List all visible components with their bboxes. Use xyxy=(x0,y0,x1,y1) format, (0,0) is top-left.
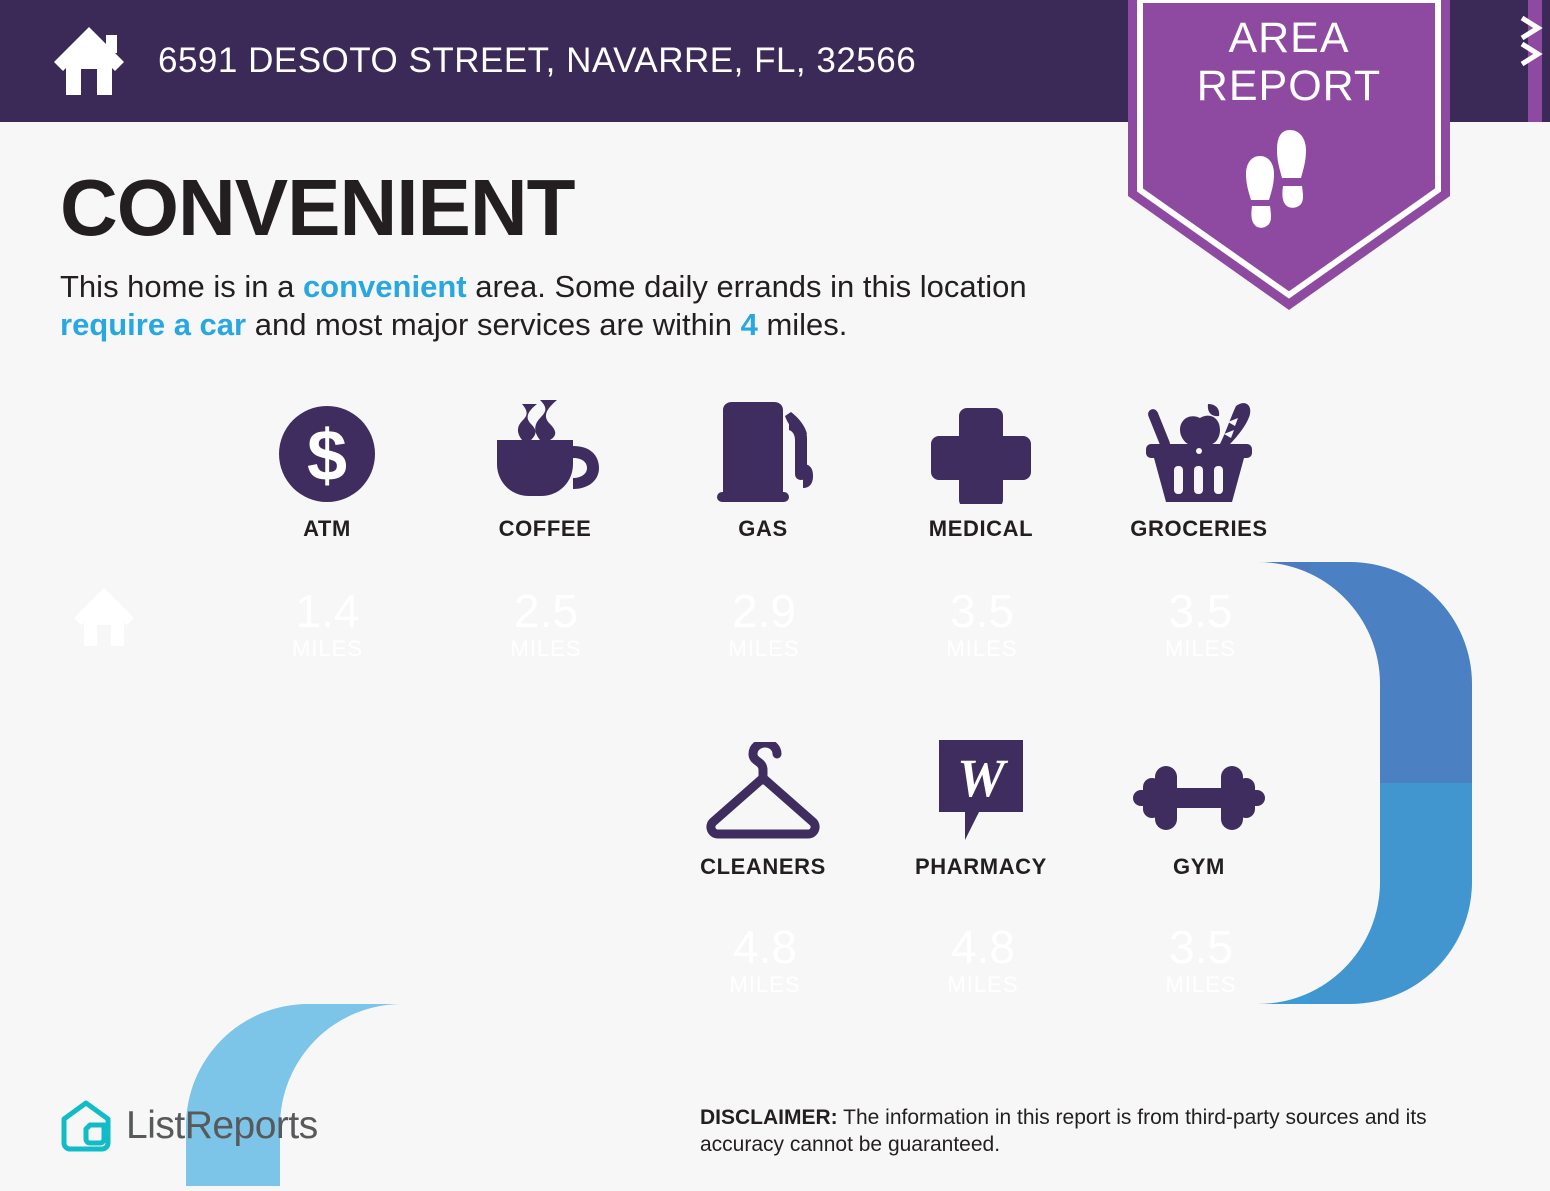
area-report-badge: AREA REPORT xyxy=(1128,0,1450,310)
page-title: CONVENIENT xyxy=(60,166,575,250)
grocery-basket-icon xyxy=(1140,404,1258,504)
logo-text: ListReports xyxy=(126,1104,318,1148)
snake-segment-medical xyxy=(873,562,1091,688)
snake-segment-lead-2 xyxy=(438,878,656,1004)
snake-connector-right-bottom xyxy=(1310,783,1510,1004)
amenity-gas: GAS xyxy=(654,404,872,542)
snake-tail-left xyxy=(186,1004,406,1186)
subtitle-part-3: and most major services are within xyxy=(246,307,740,342)
home-icon xyxy=(72,586,136,648)
subtitle-part-2: area. Some daily errands in this locatio… xyxy=(467,269,1027,304)
snake-connector-right-top xyxy=(1310,562,1510,783)
badge-line-1: AREA xyxy=(1128,14,1450,62)
amenity-icon-row-primary: $ ATM COFFEE GAS xyxy=(0,404,1550,542)
home-icon xyxy=(52,25,126,97)
listreports-house-icon xyxy=(60,1099,112,1153)
amenity-label: MEDICAL xyxy=(929,516,1033,542)
amenity-medical: MEDICAL xyxy=(872,404,1090,542)
snake-segment-gym xyxy=(1092,878,1310,1004)
dollar-circle-icon: $ xyxy=(277,404,377,504)
listreports-logo: ListReports xyxy=(60,1099,318,1153)
medical-cross-icon xyxy=(931,404,1031,504)
chevron-right-icon xyxy=(1520,14,1550,70)
coffee-cup-icon xyxy=(487,404,603,504)
svg-text:$: $ xyxy=(307,416,347,496)
disclaimer-label: DISCLAIMER: xyxy=(700,1106,838,1129)
snake-segment-lead-1 xyxy=(186,878,438,1004)
subtitle-part-1: This home is in a xyxy=(60,269,303,304)
subtitle-highlight-1: convenient xyxy=(303,269,467,304)
amenity-coffee: COFFEE xyxy=(436,404,654,542)
amenity-label: COFFEE xyxy=(499,516,592,542)
amenity-label: GAS xyxy=(738,516,787,542)
amenity-label: ATM xyxy=(303,516,351,542)
snake-segment-groceries xyxy=(1091,562,1310,688)
amenity-label: GROCERIES xyxy=(1130,516,1267,542)
snake-segment-gas xyxy=(655,562,873,688)
amenity-groceries: GROCERIES xyxy=(1090,404,1308,542)
snake-segment-coffee xyxy=(437,562,655,688)
property-address: 6591 DESOTO STREET, NAVARRE, FL, 32566 xyxy=(158,41,916,81)
gas-pump-icon xyxy=(711,404,815,504)
snake-segment-cleaners xyxy=(656,878,874,1004)
subtitle-part-4: miles. xyxy=(758,307,848,342)
subtitle-highlight-3: 4 xyxy=(741,307,758,342)
snake-segment-pharmacy xyxy=(874,878,1092,1004)
badge-line-2: REPORT xyxy=(1128,62,1450,110)
badge-title: AREA REPORT xyxy=(1128,14,1450,110)
subtitle-highlight-2: require a car xyxy=(60,307,246,342)
disclaimer: DISCLAIMER: The information in this repo… xyxy=(700,1104,1510,1158)
distance-snake-bar xyxy=(0,562,1550,1186)
page-subtitle: This home is in a convenient area. Some … xyxy=(60,268,1090,344)
snake-segment-atm xyxy=(218,562,437,688)
amenity-atm: $ ATM xyxy=(218,404,436,542)
